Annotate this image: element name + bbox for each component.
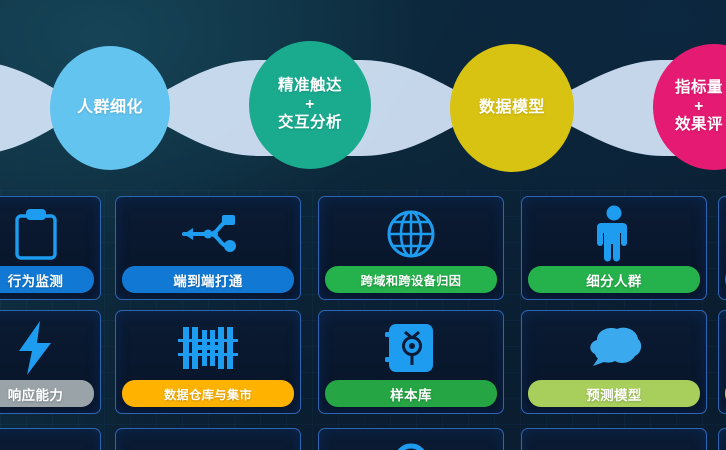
card-label: 行为监测 [0,266,94,293]
card-row2-col2[interactable] [318,428,504,450]
usb-connect-icon [116,203,300,265]
card-label: 细分人群 [528,266,700,293]
card-row0-col2[interactable]: 跨域和跨设备归因 [318,196,504,300]
card-label: 响应能力 [0,380,94,407]
card-row1-col0[interactable]: 响应能力 [0,310,101,414]
ribbon-node-0[interactable]: 人群细化 [50,46,170,170]
card-row1-col4[interactable] [718,310,726,414]
card-label: 跨域和跨设备归因 [325,266,497,293]
bar-icon [522,435,706,450]
ribbon-node-label: 人群细化 [71,98,149,118]
blank-icon [719,317,726,379]
data-warehouse-icon [116,317,300,379]
screen-icon [116,435,300,450]
globe-icon [319,203,503,265]
ribbon-node-label: 指标量 + 效果评 [653,79,726,136]
ribbon-node-label: 数据模型 [473,98,551,118]
card-row0-col0[interactable]: 行为监测 [0,196,101,300]
card-row0-col4[interactable] [718,196,726,300]
card-label: 预测模型 [528,380,700,407]
clipboard-icon [0,203,100,265]
blank-icon [719,203,726,265]
card-row1-col1[interactable]: 数据仓库与集市 [115,310,301,414]
arc-icon [0,435,100,450]
card-row2-col0[interactable] [0,428,101,450]
card-row2-col4[interactable] [718,428,726,450]
card-row1-col2[interactable]: 样本库 [318,310,504,414]
card-label: 样本库 [325,380,497,407]
card-row0-col1[interactable]: 端到端打通 [115,196,301,300]
ribbon-node-2[interactable]: 数据模型 [450,44,574,172]
ribbon-node-1[interactable]: 精准触达 + 交互分析 [249,41,371,169]
person-icon [522,203,706,265]
blank-icon [719,435,726,450]
card-row0-col3[interactable]: 细分人群 [521,196,707,300]
lightning-icon [0,317,100,379]
card-row2-col3[interactable] [521,428,707,450]
ribbon-node-label: 精准触达 + 交互分析 [272,77,348,134]
slide-canvas: 人群细化 精准触达 + 交互分析 数据模型 指标量 + 效果评 行为监测 [0,0,726,450]
card-label: 端到端打通 [122,266,294,293]
capability-card-grid: 行为监测 端到端打通 [0,196,726,450]
card-row1-col3[interactable]: 预测模型 [521,310,707,414]
pin-icon [319,435,503,450]
card-row2-col1[interactable] [115,428,301,450]
brain-icon [522,317,706,379]
process-ribbon: 人群细化 精准触达 + 交互分析 数据模型 指标量 + 效果评 [0,0,726,190]
safe-box-icon [319,317,503,379]
card-label: 数据仓库与集市 [122,380,294,407]
